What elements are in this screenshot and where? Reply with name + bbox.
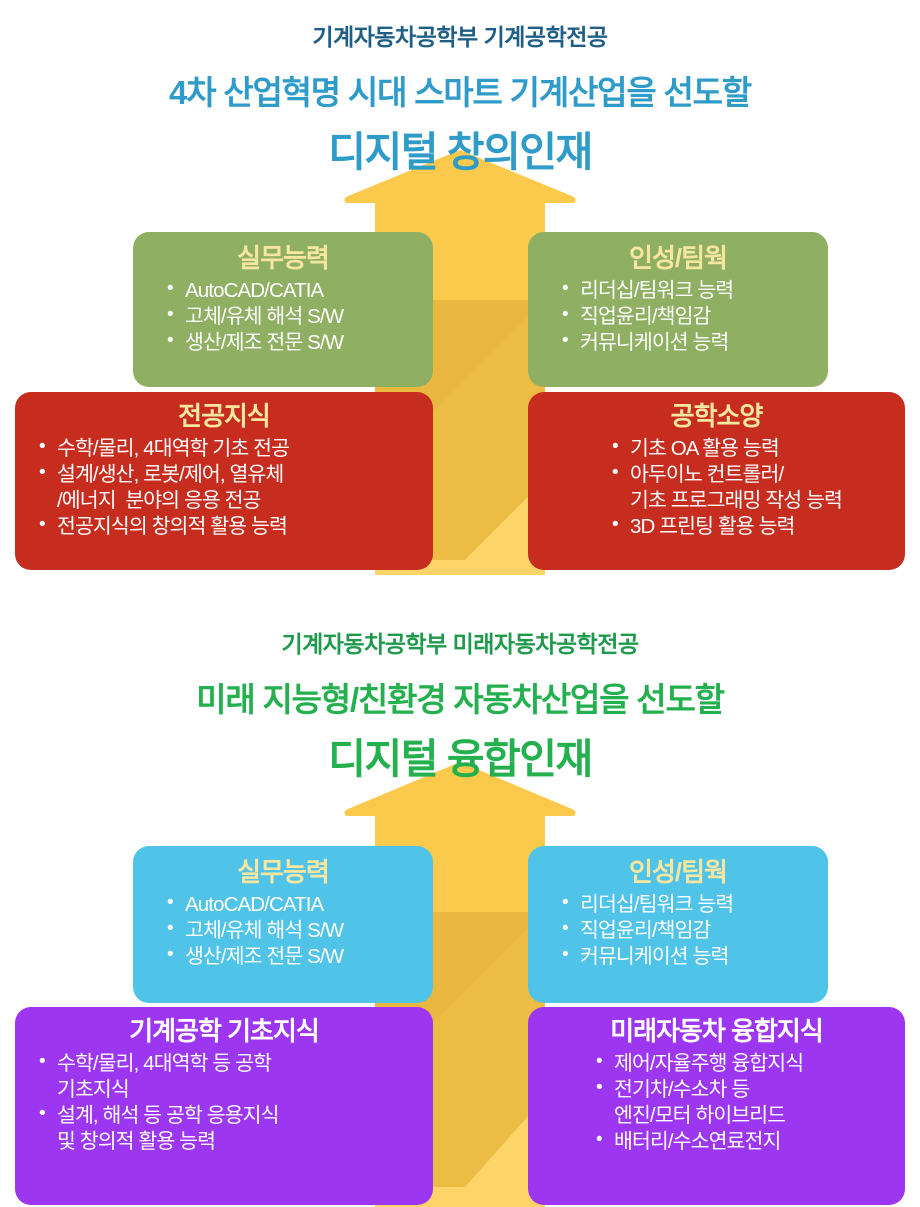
box-list-item: 수학/물리, 4대역학 기초 전공 xyxy=(37,436,423,462)
box-major-knowledge-mech: 전공지식 수학/물리, 4대역학 기초 전공설계/생산, 로봇/제어, 열유체/… xyxy=(15,392,433,570)
box-list-item: 생산/제조 전문 S/W xyxy=(165,330,423,356)
section-mechanical-engineering: 기계자동차공학부 기계공학전공 4차 산업혁명 시대 스마트 기계산업을 선도할… xyxy=(0,0,920,600)
box-list-item: 고체/유체 해석 S/W xyxy=(165,918,423,944)
box-item-list: AutoCAD/CATIA고체/유체 해석 S/W생산/제조 전문 S/W xyxy=(143,278,423,356)
department-line: 기계자동차공학부 미래자동차공학전공 xyxy=(0,607,920,659)
box-list-item: 기초지식 xyxy=(37,1077,423,1103)
box-item-list: 리더십/팀워크 능력직업윤리/책임감커뮤니케이션 능력 xyxy=(538,278,818,356)
box-item-list: 수학/물리, 4대역학 기초 전공설계/생산, 로봇/제어, 열유체/에너지 분… xyxy=(25,436,423,540)
box-item-list: 수학/물리, 4대역학 등 공학기초지식설계, 해석 등 공학 응용지식및 창의… xyxy=(25,1051,423,1155)
box-title: 공학소양 xyxy=(538,402,895,431)
box-list-item: 기초 OA 활용 능력 xyxy=(610,436,895,462)
box-list-item: 배터리/수소연료전지 xyxy=(594,1129,895,1155)
box-future-automotive-knowledge-auto: 미래자동차 융합지식 제어/자율주행 융합지식전기차/수소차 등엔진/모터 하이… xyxy=(528,1007,905,1205)
box-list-item: 직업윤리/책임감 xyxy=(560,918,818,944)
box-list-item: 설계, 해석 등 공학 응용지식 xyxy=(37,1103,423,1129)
box-list-item: AutoCAD/CATIA xyxy=(165,892,423,918)
box-list-item: 고체/유체 해석 S/W xyxy=(165,304,423,330)
box-list-item: /에너지 분야의 응용 전공 xyxy=(37,488,423,514)
box-title: 인성/팀웍 xyxy=(538,244,818,273)
box-character-teamwork-mech: 인성/팀웍 리더십/팀워크 능력직업윤리/책임감커뮤니케이션 능력 xyxy=(528,232,828,387)
box-list-item: 커뮤니케이션 능력 xyxy=(560,944,818,970)
box-item-list: 기초 OA 활용 능력아두이노 컨트롤러/기초 프로그래밍 작성 능력3D 프린… xyxy=(538,436,895,540)
main-title-line: 디지털 창의인재 xyxy=(0,114,920,178)
box-practical-skills-auto: 실무능력 AutoCAD/CATIA고체/유체 해석 S/W생산/제조 전문 S… xyxy=(133,846,433,1003)
box-list-item: 커뮤니케이션 능력 xyxy=(560,330,818,356)
box-practical-skills-mech: 실무능력 AutoCAD/CATIA고체/유체 해석 S/W생산/제조 전문 S… xyxy=(133,232,433,387)
subtitle-line: 4차 산업혁명 시대 스마트 기계산업을 선도할 xyxy=(0,52,920,114)
headings-auto: 기계자동차공학부 미래자동차공학전공 미래 지능형/친환경 자동차산업을 선도할… xyxy=(0,607,920,785)
box-title: 실무능력 xyxy=(143,244,423,273)
box-list-item: 직업윤리/책임감 xyxy=(560,304,818,330)
box-item-list: 리더십/팀워크 능력직업윤리/책임감커뮤니케이션 능력 xyxy=(538,892,818,970)
box-list-item: 기초 프로그래밍 작성 능력 xyxy=(610,488,895,514)
box-title: 미래자동차 융합지식 xyxy=(538,1017,895,1046)
section-future-automotive: 기계자동차공학부 미래자동차공학전공 미래 지능형/친환경 자동차산업을 선도할… xyxy=(0,607,920,1207)
box-item-list: 제어/자율주행 융합지식전기차/수소차 등엔진/모터 하이브리드배터리/수소연료… xyxy=(538,1051,895,1155)
subtitle-line: 미래 지능형/친환경 자동차산업을 선도할 xyxy=(0,659,920,721)
box-title: 인성/팀웍 xyxy=(538,858,818,887)
box-list-item: 수학/물리, 4대역학 등 공학 xyxy=(37,1051,423,1077)
department-line: 기계자동차공학부 기계공학전공 xyxy=(0,0,920,52)
box-list-item: 3D 프린팅 활용 능력 xyxy=(610,514,895,540)
box-title: 실무능력 xyxy=(143,858,423,887)
box-item-list: AutoCAD/CATIA고체/유체 해석 S/W생산/제조 전문 S/W xyxy=(143,892,423,970)
headings-mech: 기계자동차공학부 기계공학전공 4차 산업혁명 시대 스마트 기계산업을 선도할… xyxy=(0,0,920,178)
box-list-item: 리더십/팀워크 능력 xyxy=(560,278,818,304)
box-list-item: 전기차/수소차 등 xyxy=(594,1077,895,1103)
box-list-item: AutoCAD/CATIA xyxy=(165,278,423,304)
box-mechanical-basics-auto: 기계공학 기초지식 수학/물리, 4대역학 등 공학기초지식설계, 해석 등 공… xyxy=(15,1007,433,1205)
box-list-item: 설계/생산, 로봇/제어, 열유체 xyxy=(37,462,423,488)
box-engineering-literacy-mech: 공학소양 기초 OA 활용 능력아두이노 컨트롤러/기초 프로그래밍 작성 능력… xyxy=(528,392,905,570)
box-list-item: 생산/제조 전문 S/W xyxy=(165,944,423,970)
box-list-item: 전공지식의 창의적 활용 능력 xyxy=(37,514,423,540)
box-list-item: 엔진/모터 하이브리드 xyxy=(594,1103,895,1129)
box-list-item: 및 창의적 활용 능력 xyxy=(37,1129,423,1155)
box-title: 기계공학 기초지식 xyxy=(25,1017,423,1046)
main-title-line: 디지털 융합인재 xyxy=(0,721,920,785)
box-list-item: 제어/자율주행 융합지식 xyxy=(594,1051,895,1077)
box-character-teamwork-auto: 인성/팀웍 리더십/팀워크 능력직업윤리/책임감커뮤니케이션 능력 xyxy=(528,846,828,1003)
box-list-item: 리더십/팀워크 능력 xyxy=(560,892,818,918)
box-title: 전공지식 xyxy=(25,402,423,431)
box-list-item: 아두이노 컨트롤러/ xyxy=(610,462,895,488)
